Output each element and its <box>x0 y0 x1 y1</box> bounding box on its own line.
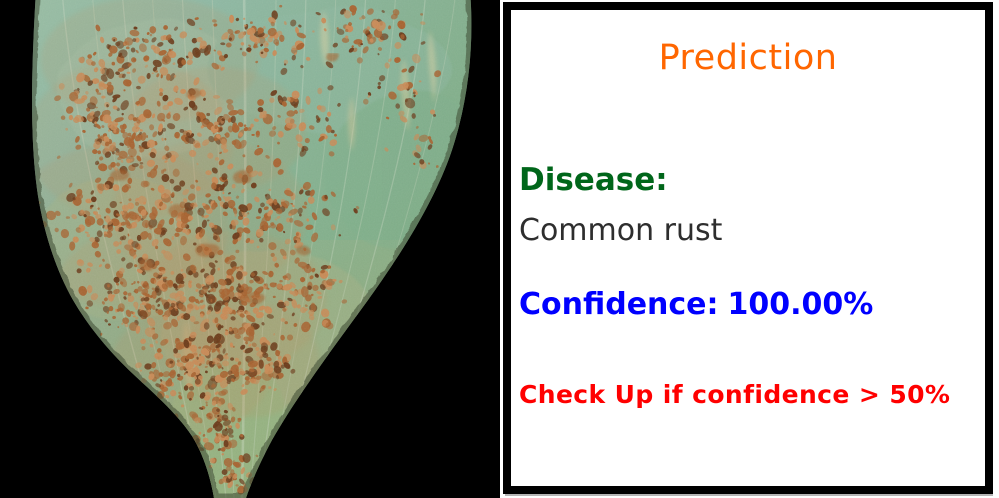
disease-label: Disease: <box>519 162 668 198</box>
prediction-screen: Prediction Disease: Common rust Confiden… <box>0 0 999 498</box>
confidence-value: 100.00% <box>728 287 874 322</box>
confidence-label: Confidence: <box>519 287 719 322</box>
corn-leaf-photograph <box>0 0 500 498</box>
prediction-panel-body: Prediction Disease: Common rust Confiden… <box>511 10 985 486</box>
prediction-result-panel: Prediction Disease: Common rust Confiden… <box>503 2 993 494</box>
confidence-line: Confidence:100.00% <box>519 287 873 322</box>
prediction-title: Prediction <box>511 38 985 78</box>
right-edge-gutter <box>993 0 999 498</box>
leaf-image-panel <box>0 0 500 498</box>
disease-value: Common rust <box>519 213 722 248</box>
checkup-advice-text: Check Up if confidence > 50% <box>519 380 950 409</box>
